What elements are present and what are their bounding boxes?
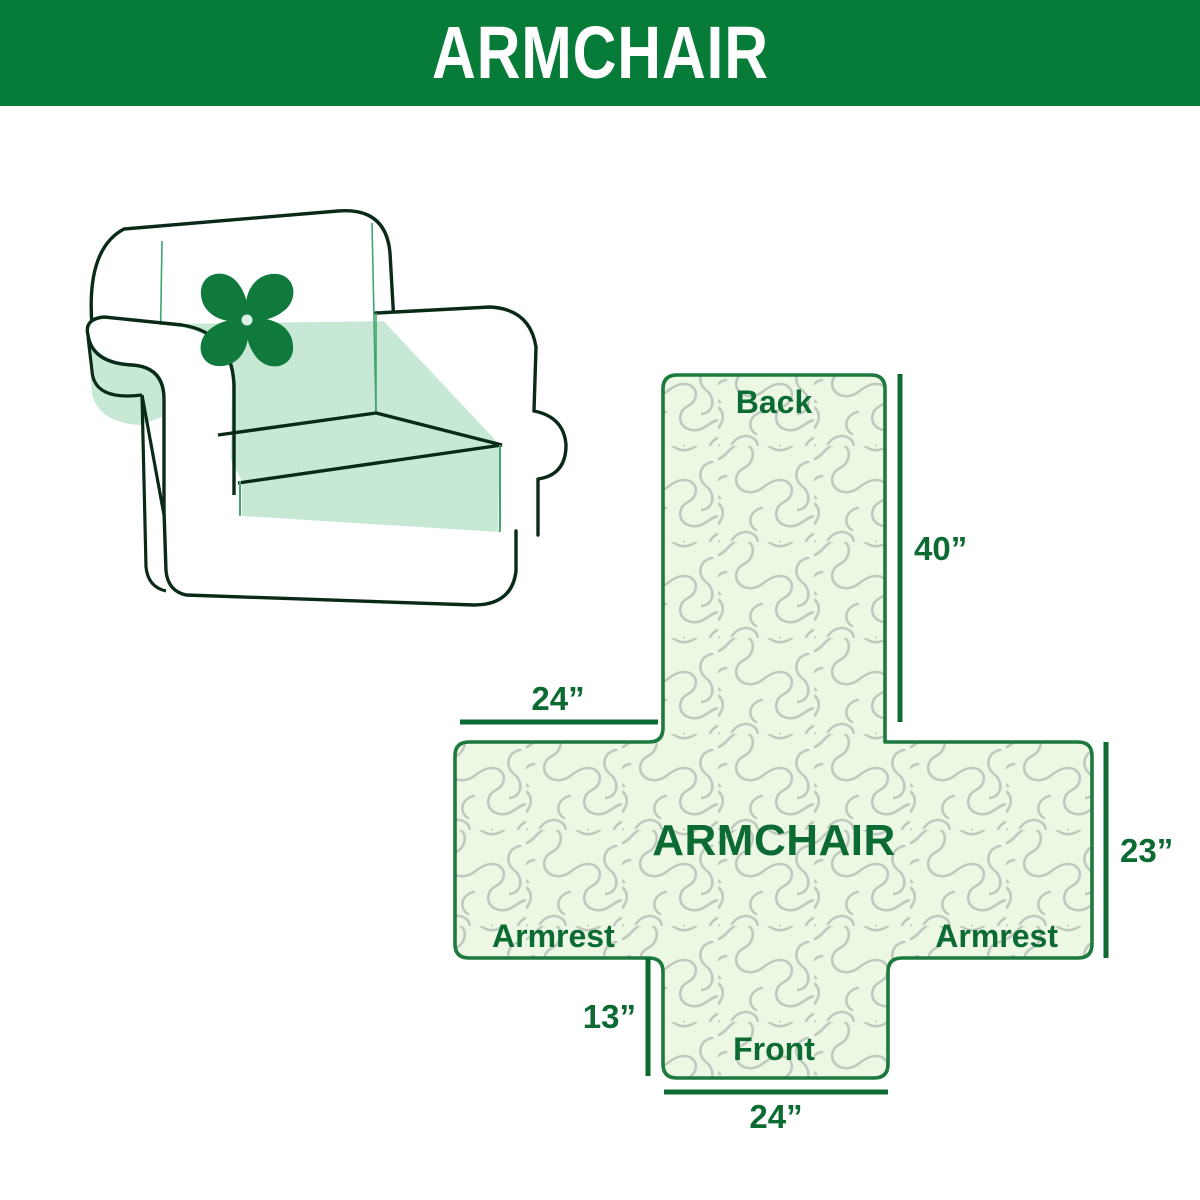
armchair-cover-pattern-diagram: Back ARMCHAIR Armrest Armrest Front 24” … [430,350,1200,1140]
page-title: ARMCHAIR [432,16,769,90]
label-front: Front [733,1031,815,1067]
pinwheel-hub [242,315,253,326]
label-armrest-right: Armrest [935,918,1058,954]
dim-label-front-width: 24” [749,1098,802,1135]
label-back: Back [736,384,813,420]
dim-label-back-length: 40” [914,530,967,567]
label-armrest-left: Armrest [492,918,615,954]
diagram-page: ARMCHAIR [0,0,1200,1200]
dim-label-back-width: 24” [531,680,584,717]
header-banner: ARMCHAIR [0,0,1200,106]
dim-label-front-drop: 13” [583,998,636,1035]
cover-pattern-shape [455,375,1092,1078]
dim-label-seat-depth: 23” [1120,832,1173,869]
label-center-armchair: ARMCHAIR [652,816,896,865]
